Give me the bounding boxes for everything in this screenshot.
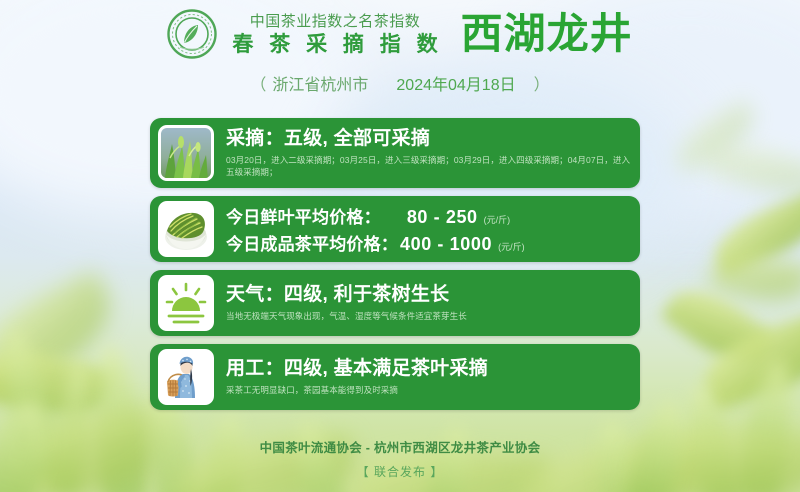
card-weather[interactable]: 天气：四级, 利于茶树生长 当地无极端天气现象出现，气温、湿度等气候条件适宜茶芽… — [150, 270, 640, 336]
tea-index-poster: 中国茶业指数之名茶指数 春 茶 采 摘 指 数 西湖龙井 （ 浙江省杭州市 20… — [0, 0, 800, 492]
poster-footer: 中国茶叶流通协会 - 杭州市西湖区龙井茶产业协会 【 联合发布 】 — [0, 437, 800, 480]
card-labor-desc: 采茶工无明显缺口，茶园基本能得到及时采摘 — [226, 384, 632, 396]
card-labor[interactable]: 用工：四级, 基本满足茶叶采摘 采茶工无明显缺口，茶园基本能得到及时采摘 — [150, 344, 640, 410]
brand-big-label: 春 茶 采 摘 指 数 — [227, 34, 442, 55]
price-row-made: 今日成品茶平均价格： 400 - 1000 (元/斤) — [226, 230, 632, 255]
card-weather-body: 天气：四级, 利于茶树生长 当地无极端天气现象出现，气温、湿度等气候条件适宜茶芽… — [214, 284, 632, 322]
fresh-price-unit: (元/斤) — [484, 213, 511, 226]
card-picking-title: 采摘：五级, 全部可采摘 — [226, 128, 632, 150]
brand-block: 中国茶业指数之名茶指数 春 茶 采 摘 指 数 — [227, 14, 442, 55]
sun-icon-tile — [158, 275, 214, 331]
card-price-body: 今日鲜叶平均价格： 80 - 250 (元/斤) 今日成品茶平均价格： 400 … — [214, 203, 632, 255]
header-title-row: 中国茶业指数之名茶指数 春 茶 采 摘 指 数 西湖龙井 — [167, 9, 632, 59]
card-weather-desc: 当地无极端天气现象出现，气温、湿度等气候条件适宜茶芽生长 — [226, 310, 632, 322]
card-picking-body: 采摘：五级, 全部可采摘 03月20日，进入二级采摘期；03月25日，进入三级采… — [214, 128, 632, 178]
card-labor-body: 用工：四级, 基本满足茶叶采摘 采茶工无明显缺口，茶园基本能得到及时采摘 — [214, 358, 632, 396]
fresh-price-value: 80 - 250 — [407, 207, 478, 228]
card-weather-title: 天气：四级, 利于茶树生长 — [226, 284, 632, 306]
paren-close: ） — [534, 71, 550, 95]
footer-organizations: 中国茶叶流通协会 - 杭州市西湖区龙井茶产业协会 — [0, 437, 800, 456]
index-card-list: 采摘：五级, 全部可采摘 03月20日，进入二级采摘期；03月25日，进入三级采… — [150, 118, 640, 410]
page-title: 西湖龙井 — [461, 13, 633, 55]
brand-small-label: 中国茶业指数之名茶指数 — [250, 14, 421, 29]
card-picking-desc: 03月20日，进入二级采摘期；03月25日，进入三级采摘期；03月29日，进入四… — [226, 154, 632, 179]
made-price-label: 今日成品茶平均价格： — [226, 230, 398, 255]
fresh-price-label: 今日鲜叶平均价格： — [226, 203, 381, 228]
tea-leaves-bowl-photo — [158, 201, 214, 257]
poster-header: 中国茶业指数之名茶指数 春 茶 采 摘 指 数 西湖龙井 （ 浙江省杭州市 20… — [0, 0, 800, 108]
paren-open: （ — [250, 71, 266, 95]
price-row-fresh: 今日鲜叶平均价格： 80 - 250 (元/斤) — [226, 203, 632, 228]
card-price[interactable]: 今日鲜叶平均价格： 80 - 250 (元/斤) 今日成品茶平均价格： 400 … — [150, 196, 640, 262]
tea-shoots-photo — [158, 125, 214, 181]
card-picking[interactable]: 采摘：五级, 全部可采摘 03月20日，进入二级采摘期；03月25日，进入三级采… — [150, 118, 640, 188]
footer-release-note: 【 联合发布 】 — [0, 463, 800, 480]
card-labor-title: 用工：四级, 基本满足茶叶采摘 — [226, 358, 632, 380]
tea-leaf-emblem-icon — [167, 9, 217, 59]
made-price-unit: (元/斤) — [498, 240, 525, 253]
region-label: 浙江省杭州市 — [272, 71, 368, 95]
subtitle-row: （ 浙江省杭州市 2024年04月18日 ） — [250, 71, 549, 95]
tea-picker-woman-photo — [158, 349, 214, 405]
date-label: 2024年04月18日 — [396, 71, 515, 95]
sun-icon — [161, 278, 211, 328]
made-price-value: 400 - 1000 — [400, 234, 492, 255]
